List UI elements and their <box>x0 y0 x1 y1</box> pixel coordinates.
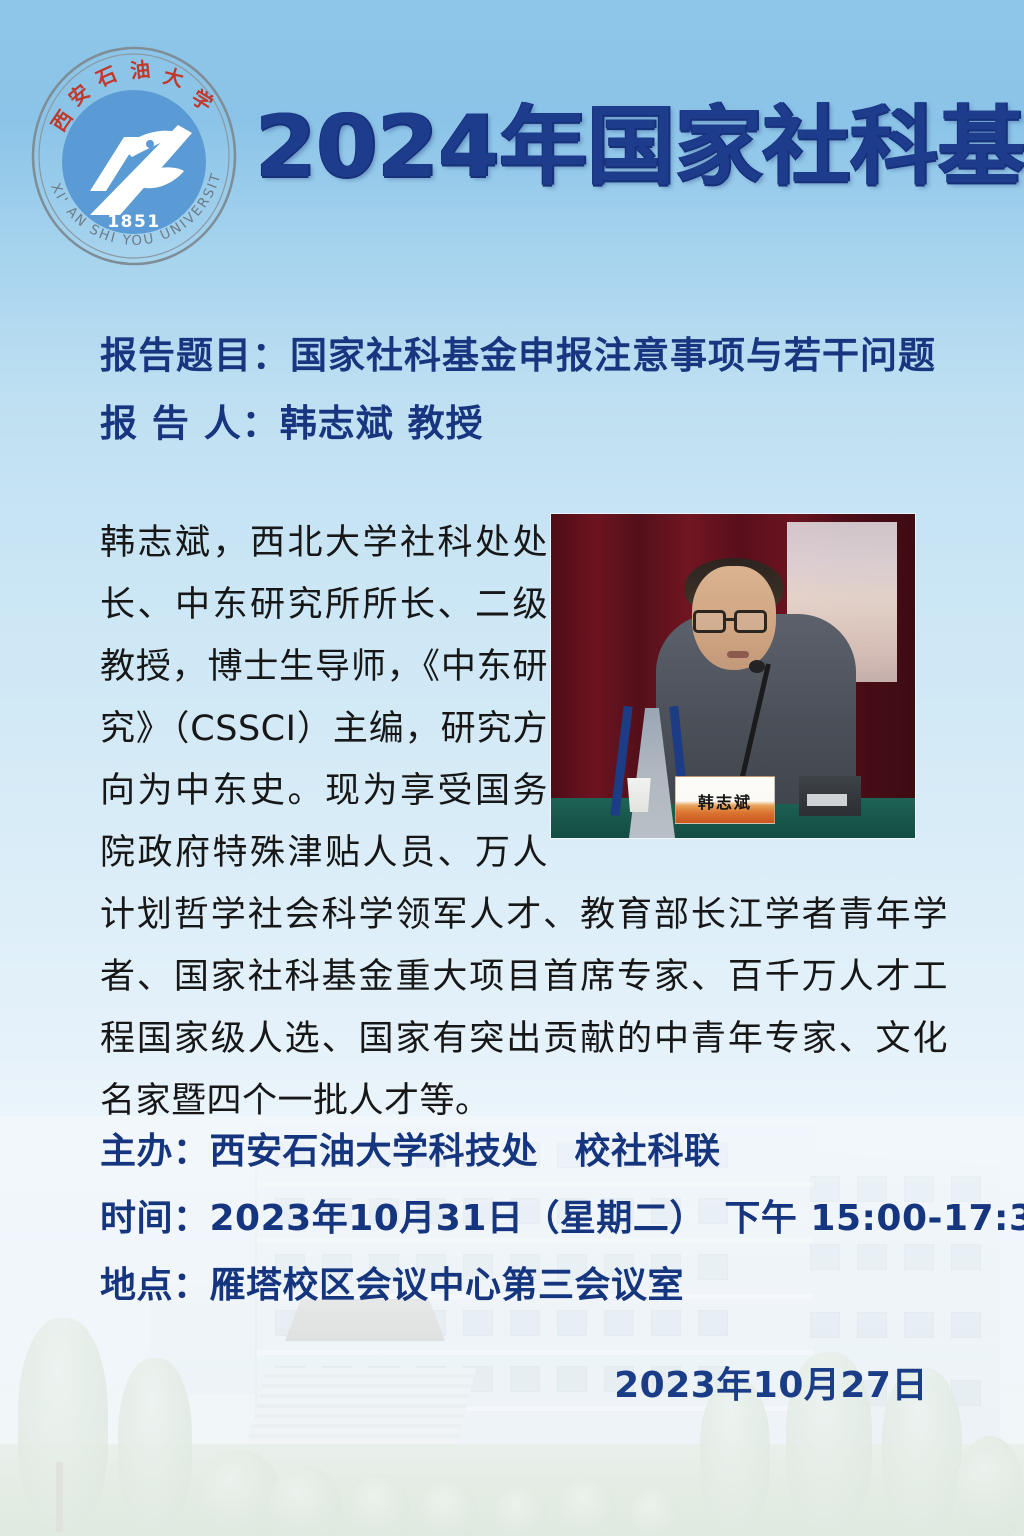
svg-text:1851: 1851 <box>107 212 160 232</box>
issue-date: 2023年10月27日 <box>614 1356 928 1408</box>
report-topic-line: 报告题目：国家社科基金申报注意事项与若干问题 <box>100 322 960 390</box>
event-location-line: 地点：雁塔校区会议中心第三会议室 <box>100 1252 990 1319</box>
svg-text:石: 石 <box>91 62 120 92</box>
svg-text:油: 油 <box>129 57 151 83</box>
event-organizer-line: 主办：西安石油大学科技处 校社科联 <box>100 1118 990 1185</box>
svg-text:大: 大 <box>161 64 186 92</box>
event-info-block: 主办：西安石油大学科技处 校社科联 时间：2023年10月31日（星期二） 下午… <box>100 1118 990 1319</box>
poster-root: 1851 西 安 石 油 大 学 XI' AN SHI YOU UNIVERSI… <box>0 0 1024 1536</box>
speaker-bio: 韩志斌，西北大学社科处处长、中东研究所所长、二级教授，博士生导师，《中东研究》（… <box>100 512 948 1132</box>
university-logo: 1851 西 安 石 油 大 学 XI' AN SHI YOU UNIVERSI… <box>28 45 240 267</box>
poster-main-title: 2024年国家社科基金辅导报告 <box>255 92 1024 202</box>
poster-header: 1851 西 安 石 油 大 学 XI' AN SHI YOU UNIVERSI… <box>0 0 1024 272</box>
report-heading-block: 报告题目：国家社科基金申报注意事项与若干问题 报 告 人：韩志斌 教授 <box>100 322 960 458</box>
event-time-line: 时间：2023年10月31日（星期二） 下午 15:00-17:30 <box>100 1185 990 1252</box>
report-speaker-line: 报 告 人：韩志斌 教授 <box>100 390 960 458</box>
